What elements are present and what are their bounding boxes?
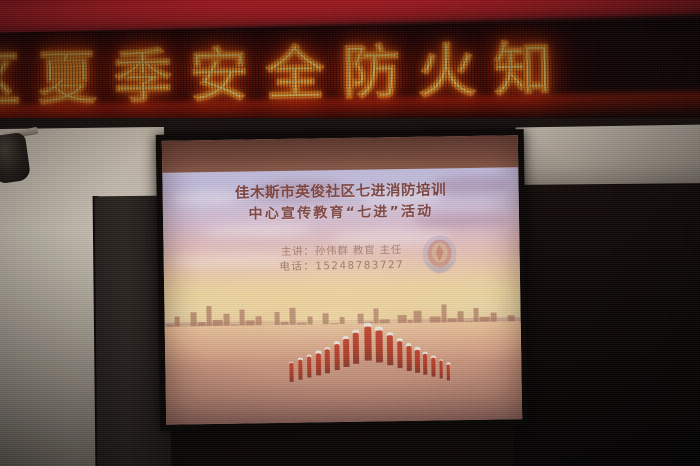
firefighter-body	[397, 341, 403, 368]
firefighter-figure	[323, 347, 332, 374]
firefighter-body	[431, 357, 435, 376]
firefighter-body	[343, 339, 349, 367]
firefighter-body	[364, 327, 372, 361]
firefighter-figure	[287, 361, 295, 383]
firefighter-body	[439, 361, 443, 379]
firefighter-body	[376, 330, 383, 362]
room-photo-scene: 区夏季安全防火知	[0, 0, 700, 466]
firefighter-body	[423, 354, 428, 375]
firefighter-figure	[296, 358, 304, 381]
firefighter-figure	[305, 354, 314, 378]
firefighter-body	[415, 350, 420, 373]
wall-shadow-right	[510, 183, 700, 466]
firefighter-body	[316, 353, 321, 376]
firefighter-figure	[314, 351, 323, 377]
firefighter-figure	[341, 336, 351, 368]
firefighter-figure	[362, 323, 374, 362]
projection-screen-frame: 佳木斯市英俊社区七进消防培训 中心宣传教育“七进”活动 主讲：孙伟群 教官 主任…	[156, 129, 529, 431]
projection-screen-surface: 佳木斯市英俊社区七进消防培训 中心宣传教育“七进”活动 主讲：孙伟群 教官 主任…	[162, 135, 522, 425]
firefighter-figure	[351, 330, 362, 365]
slide-subtitle: 主讲：孙伟群 教官 主任 电话：15248783727	[163, 241, 519, 277]
firefighter-body	[334, 344, 340, 370]
firefighter-body	[406, 346, 412, 371]
firefighter-body	[298, 360, 302, 380]
firefighter-body	[387, 335, 394, 365]
firefighter-body	[307, 356, 312, 377]
firefighter-figure	[374, 326, 385, 363]
firefighter-body	[289, 363, 293, 382]
firefighter-body	[353, 333, 360, 364]
slide-title: 佳木斯市英俊社区七进消防培训 中心宣传教育“七进”活动	[162, 179, 519, 227]
firefighter-body	[446, 364, 450, 380]
firefighter-body	[325, 349, 330, 373]
slide-firefighter-formation	[165, 311, 522, 381]
firefighter-figure	[444, 363, 452, 382]
